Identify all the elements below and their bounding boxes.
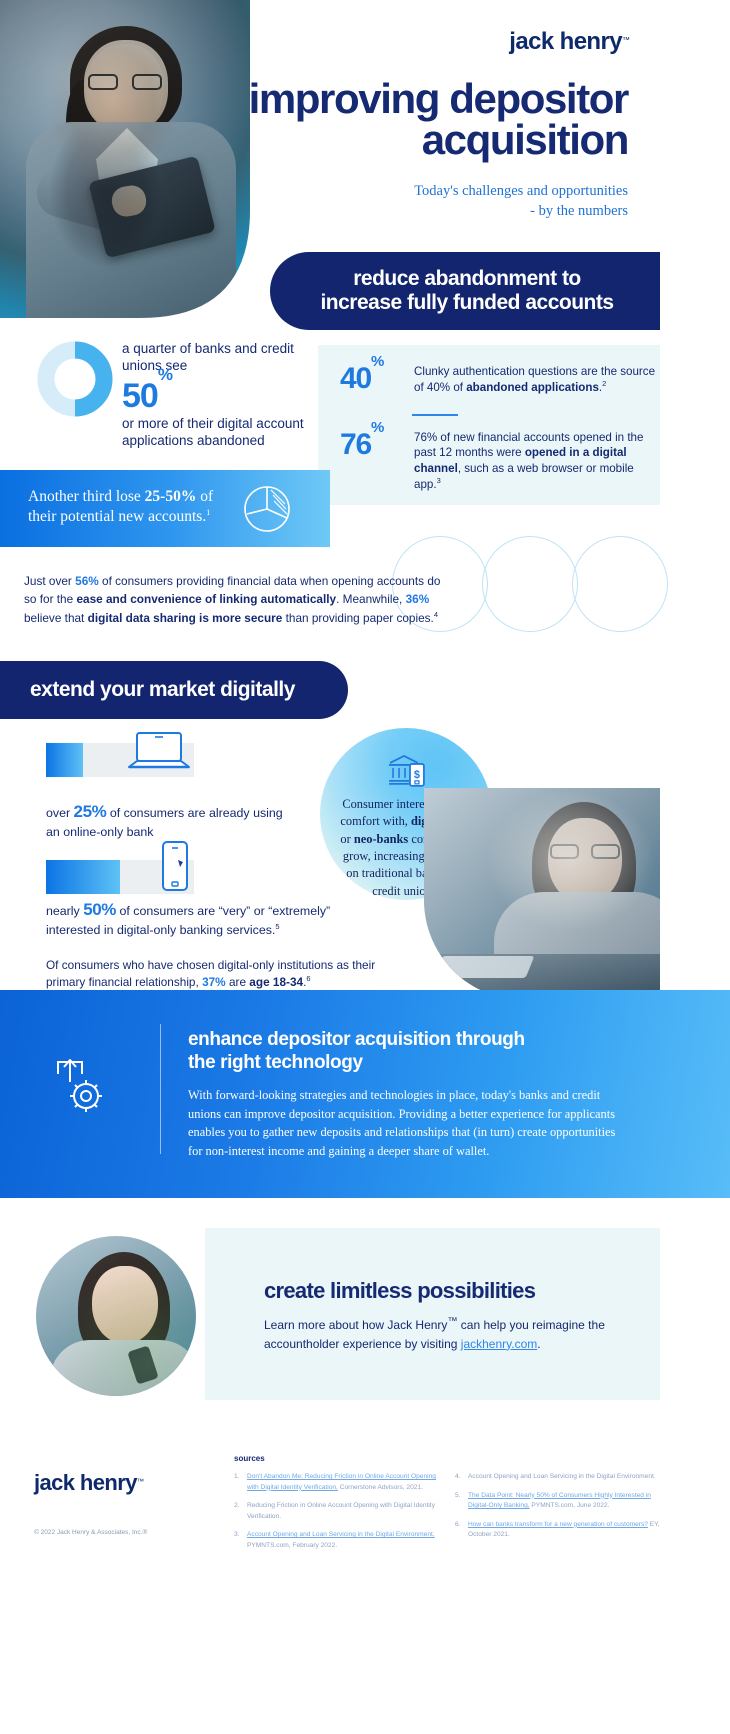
sources-column-2: 4.Account Opening and Loan Servicing in … <box>455 1472 660 1549</box>
footer-brand-text: jack henry <box>34 1470 137 1495</box>
decorative-ring-2 <box>482 536 578 632</box>
phone-icon <box>160 840 190 892</box>
stat-76-number: 76% <box>340 430 414 460</box>
stat-76-text: 76% of new financial accounts opened in … <box>414 430 658 492</box>
bar-caption-25: over 25% of consumers are already using … <box>46 801 296 840</box>
page-subtitle: Today's challenges and opportunities - b… <box>208 182 628 221</box>
source-item: 6.How can banks transform for a new gene… <box>455 1520 660 1541</box>
infographic-page: jack henry™ improving depositor acquisit… <box>0 0 730 1734</box>
source-item: 5.The Data Point: Nearly 50% of Consumer… <box>455 1491 660 1512</box>
donut-label-top: a quarter of banks and credit unions see <box>122 340 312 375</box>
brand-logo-text: jack henry <box>509 28 622 55</box>
eyeglasses-icon-2 <box>550 844 620 859</box>
data-sharing-paragraph: Just over 56% of consumers providing fin… <box>24 572 442 627</box>
copyright-text: © 2022 Jack Henry & Associates, Inc.® <box>34 1529 147 1536</box>
section-heading-reduce-abandonment: reduce abandonment to increase fully fun… <box>270 252 660 330</box>
section4-body: Learn more about how Jack Henry™ can hel… <box>264 1314 616 1353</box>
source-item: 2.Reducing Friction in Online Account Op… <box>234 1501 439 1522</box>
bank-mobile-icon: $ <box>386 752 426 788</box>
sources-heading: sources <box>234 1454 265 1463</box>
bar-fill-25 <box>46 743 83 777</box>
section3-title: enhance depositor acquisition through th… <box>188 1028 618 1074</box>
digital-only-age-note: Of consumers who have chosen digital-onl… <box>46 958 386 991</box>
source-link[interactable]: Account Opening and Loan Servicing in th… <box>247 1531 435 1538</box>
brand-logo: jack henry™ <box>509 28 630 56</box>
section3-body: With forward-looking strategies and tech… <box>188 1086 620 1160</box>
source-item: 3.Account Opening and Loan Servicing in … <box>234 1530 439 1551</box>
laptop-icon <box>124 729 194 777</box>
donut-chart-icon <box>36 340 114 418</box>
photo-smiling-woman-at-desk <box>424 788 660 1000</box>
source-item: 1.Don't Abandon Me: Reducing Friction in… <box>234 1472 439 1493</box>
stat-row-76: 76% 76% of new financial accounts opened… <box>340 430 658 492</box>
page-title-line2: acquisition <box>208 119 628 160</box>
jackhenry-link[interactable]: jackhenry.com <box>461 1337 537 1351</box>
source-item: 4.Account Opening and Loan Servicing in … <box>455 1472 660 1483</box>
donut-label-bottom: or more of their digital account applica… <box>122 415 312 450</box>
svg-text:$: $ <box>414 769 420 781</box>
section1-heading-line2: increase fully funded accounts <box>320 291 613 314</box>
gear-arrow-icon <box>44 1052 114 1122</box>
section-create-limitless: create limitless possibilities Learn mor… <box>0 1228 660 1400</box>
section-heading-extend-market: extend your market digitally <box>0 661 348 719</box>
page-title: improving depositor acquisition <box>208 78 628 160</box>
another-third-text: Another third lose 25-50% of their poten… <box>28 487 228 528</box>
photo-woman-with-phone <box>36 1236 196 1396</box>
section4-title: create limitless possibilities <box>264 1278 535 1304</box>
page-subtitle-line1: Today's challenges and opportunities <box>208 182 628 202</box>
stat-40-number: 40% <box>340 364 414 394</box>
bar-caption-50: nearly 50% of consumers are “very” or “e… <box>46 899 346 939</box>
sources-column-1: 1.Don't Abandon Me: Reducing Friction in… <box>234 1472 439 1559</box>
donut-value: 50% <box>122 379 172 413</box>
vertical-divider <box>160 1024 161 1154</box>
page-subtitle-line2: - by the numbers <box>208 202 628 222</box>
decorative-ring-3 <box>572 536 668 632</box>
stat-row-40: 40% Clunky authentication questions are … <box>340 364 658 396</box>
donut-chart <box>36 340 114 418</box>
donut-stat-text: a quarter of banks and credit unions see… <box>122 340 312 449</box>
footer-brand-logo: jack henry™ <box>34 1470 144 1496</box>
section-enhance-acquisition: enhance depositor acquisition through th… <box>0 990 730 1198</box>
pie-chart-icon <box>242 484 292 534</box>
brand-logo-tm: ™ <box>622 36 630 45</box>
section1-heading-line1: reduce abandonment to <box>353 267 581 290</box>
stat-divider <box>412 414 458 416</box>
footer: jack henry™ © 2022 Jack Henry & Associat… <box>0 1430 730 1734</box>
source-link[interactable]: How can banks transform for a new genera… <box>468 1521 648 1528</box>
section2-heading: extend your market digitally <box>30 678 295 702</box>
page-title-line1: improving depositor <box>208 78 628 119</box>
stat-40-text: Clunky authentication questions are the … <box>414 364 658 396</box>
eyeglasses-icon <box>88 74 162 90</box>
another-third-band: Another third lose 25-50% of their poten… <box>0 470 330 547</box>
bar-fill-50 <box>46 860 120 894</box>
